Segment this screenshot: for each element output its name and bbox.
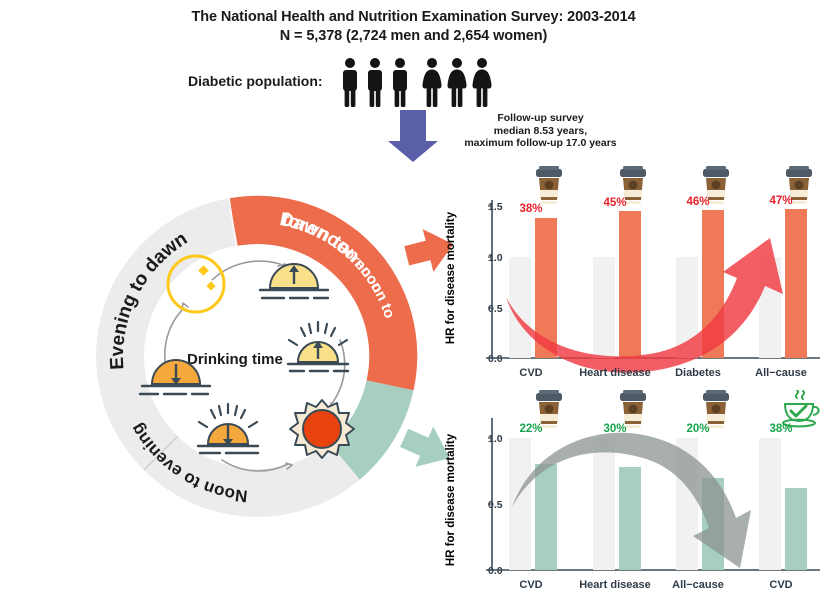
top-chart-yticks: 1.5 1.0 0.5 0.0 — [488, 201, 503, 365]
page-title: The National Health and Nutrition Examin… — [0, 8, 827, 27]
ytick: 0.0 — [488, 565, 503, 577]
reference-bar — [593, 257, 615, 358]
followup-line3: maximum follow-up 17.0 years — [448, 137, 633, 150]
top-chart-ylabel: HR for disease mortality — [445, 211, 457, 344]
category-label: Heart disease — [579, 579, 651, 591]
followup-line1: Follow-up survey — [448, 112, 633, 125]
category-label: All−cause — [755, 367, 807, 379]
category-label: CVD — [519, 367, 542, 379]
reference-bar — [759, 438, 781, 570]
top-chart: HR for disease mortality 1.5 1.0 0.5 0.0 — [440, 160, 827, 390]
bottom-chart-categories: CVD Heart disease All−cause CVD — [519, 579, 792, 591]
data-label: 45% — [603, 197, 626, 209]
ytick: 0.0 — [488, 353, 503, 365]
category-label: CVD — [769, 579, 792, 591]
value-bar — [785, 209, 807, 358]
bottom-chart-data-labels: 22% 30% 20% 38% — [519, 423, 792, 435]
data-label: 47% — [769, 195, 792, 207]
followup-line2: median 8.53 years, — [448, 125, 633, 138]
drinking-time-circle: Dawn to forenoon Forenoon to noon Noon t… — [92, 192, 422, 522]
ytick: 1.5 — [488, 201, 503, 213]
reference-bar — [593, 438, 615, 570]
data-label: 38% — [519, 203, 542, 215]
man-icon — [343, 58, 357, 107]
data-label: 46% — [686, 196, 709, 208]
value-bar — [535, 464, 557, 570]
reference-bar — [509, 438, 531, 570]
value-bar — [785, 488, 807, 570]
woman-icon — [423, 58, 442, 107]
ytick: 0.5 — [488, 499, 503, 511]
page-subtitle: N = 5,378 (2,724 men and 2,654 women) — [0, 27, 827, 46]
woman-icon — [448, 58, 467, 107]
people-icons — [338, 57, 498, 109]
top-chart-data-labels: 38% 45% 46% 47% — [519, 195, 792, 215]
moon-stars-icon — [168, 256, 224, 312]
togo-coffee-icon — [536, 166, 562, 204]
category-label: Diabetes — [675, 367, 721, 379]
woman-icon — [473, 58, 492, 107]
green-tea-cup-icon — [783, 390, 819, 426]
bottom-chart-yticks: 1.0 0.5 0.0 — [488, 433, 503, 577]
population-label: Diabetic population: — [188, 73, 323, 89]
category-label: All−cause — [672, 579, 724, 591]
value-bar — [619, 211, 641, 358]
data-label: 20% — [686, 423, 709, 435]
data-label: 38% — [769, 423, 792, 435]
sun-rising-rays-icon — [288, 322, 348, 371]
bottom-chart: HR for disease mortality 1.0 0.5 0.0 — [440, 390, 827, 603]
man-icon — [368, 58, 382, 107]
ytick: 1.0 — [488, 433, 503, 445]
data-label: 30% — [603, 423, 626, 435]
reference-bar — [509, 257, 531, 358]
data-label: 22% — [519, 423, 542, 435]
down-arrow-icon — [385, 108, 441, 164]
category-label: CVD — [519, 579, 542, 591]
header: The National Health and Nutrition Examin… — [0, 8, 827, 46]
sunrise-icon — [260, 264, 328, 298]
ytick: 1.0 — [488, 252, 503, 264]
sunset-rays-icon — [198, 404, 258, 453]
ytick: 0.5 — [488, 303, 503, 315]
category-label: Heart disease — [579, 367, 651, 379]
man-icon — [393, 58, 407, 107]
followup-caption: Follow-up survey median 8.53 years, maxi… — [448, 112, 633, 150]
value-bar — [619, 467, 641, 570]
bottom-chart-ylabel: HR for disease mortality — [445, 433, 457, 566]
drinking-time-label: Drinking time — [187, 351, 283, 368]
